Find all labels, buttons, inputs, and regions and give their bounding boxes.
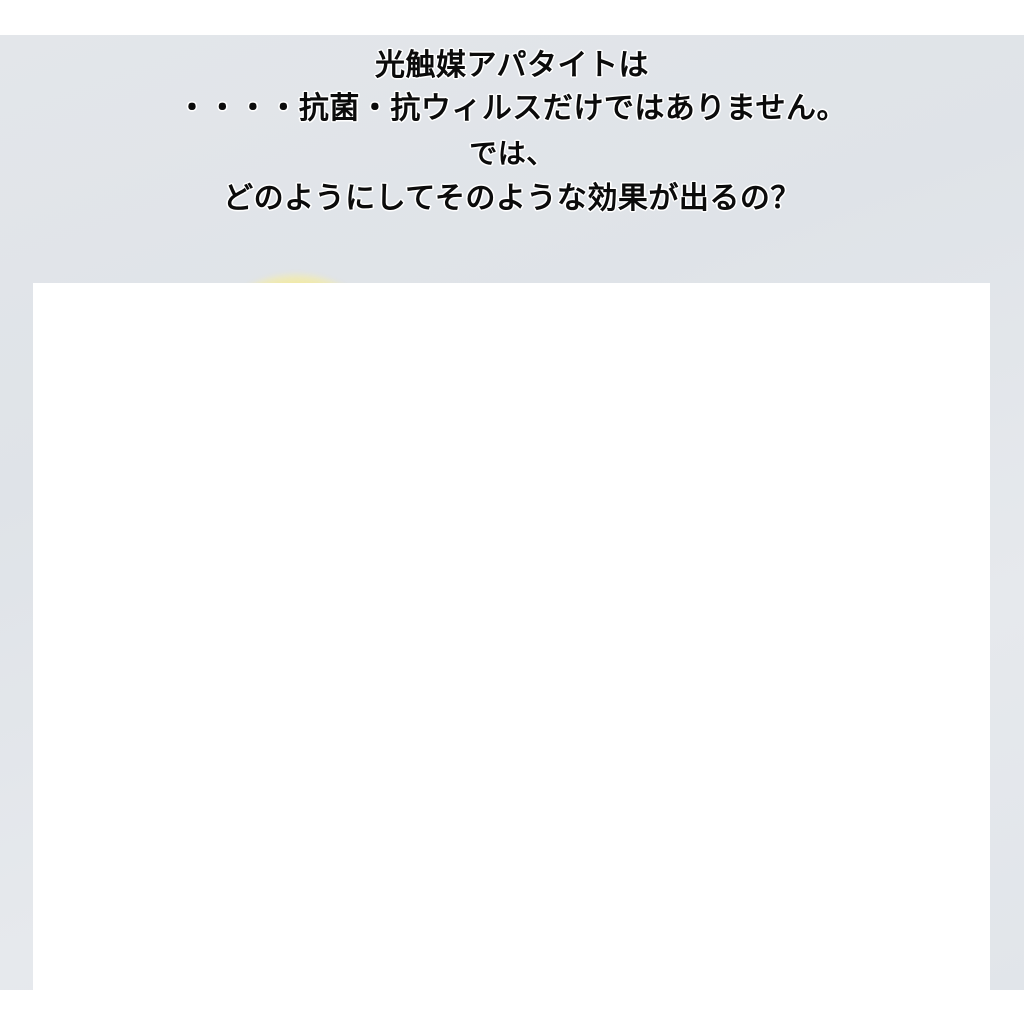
headline-line-3: では、 xyxy=(0,132,1024,176)
headline-line-1: 光触媒アパタイトは xyxy=(0,46,1024,86)
top-white-band xyxy=(0,0,1024,35)
headline: 光触媒アパタイトは ・・・・抗菌・抗ウィルスだけではありません。 では、 どのよ… xyxy=(0,46,1024,222)
bottom-white-band xyxy=(0,990,1024,1024)
headline-line-2: ・・・・抗菌・抗ウィルスだけではありません。 xyxy=(0,86,1024,132)
headline-line-4: どのようにしてそのような効果が出るの？ xyxy=(0,176,1024,222)
diagram-panel xyxy=(33,283,990,990)
